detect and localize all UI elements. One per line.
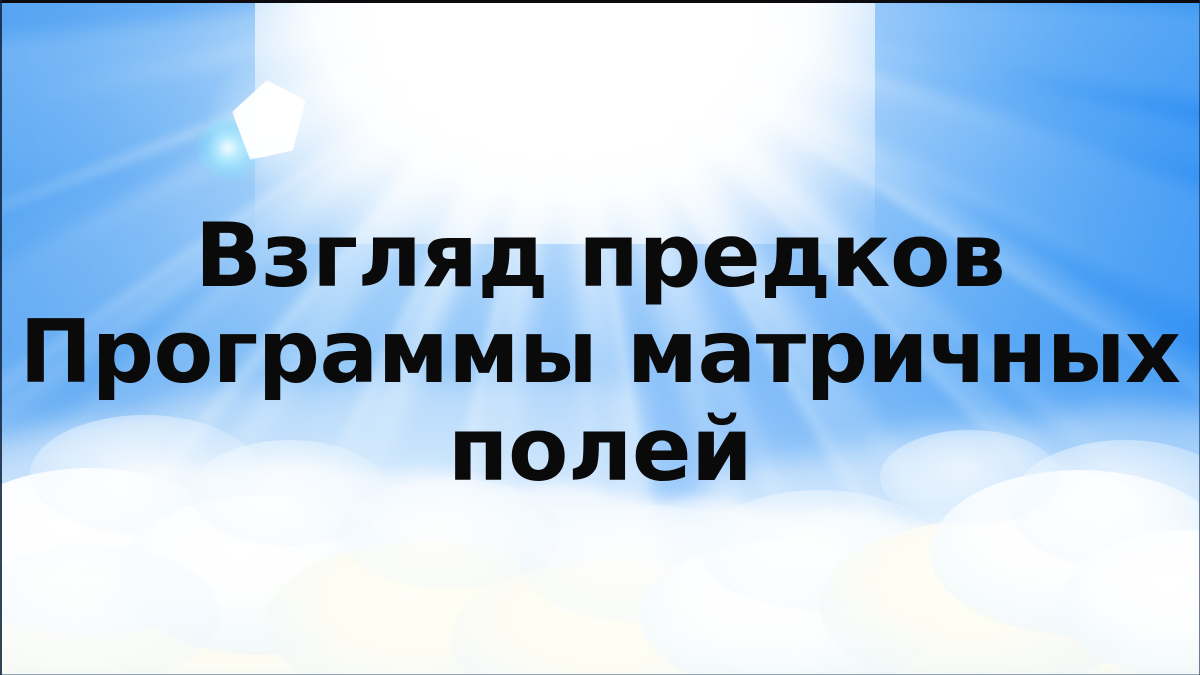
sky-vertical-light-wash [0,0,1200,675]
title-slide: Взгляд предков Программы матричных полей [0,0,1200,675]
